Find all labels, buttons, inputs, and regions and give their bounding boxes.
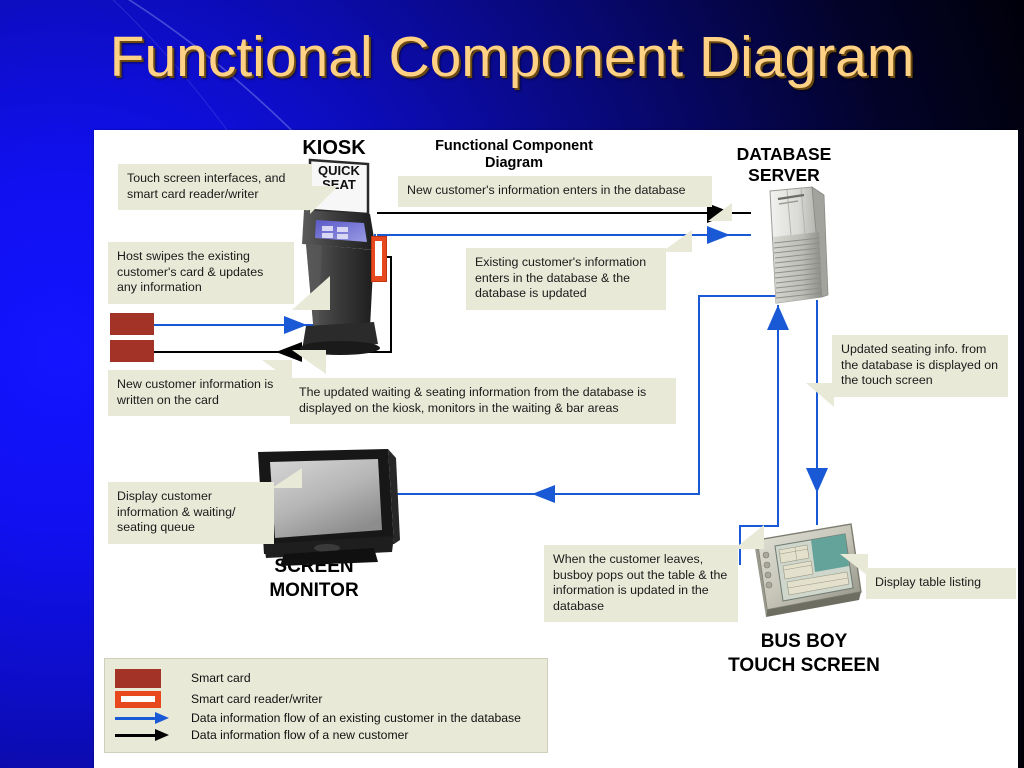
callout-new-customer-written-text: New customer information is written on t…	[117, 377, 273, 407]
smart-card-reader-slot-icon	[121, 696, 155, 702]
callout-tail	[292, 350, 326, 374]
flow-line-kiosk-to-server-new	[377, 212, 751, 214]
callout-existing-customer-enters-database: Existing customer's information enters i…	[466, 248, 666, 310]
smart-card-reader-icon	[371, 236, 387, 282]
callout-tail	[310, 186, 338, 214]
node-label-database-server-line2: SERVER	[684, 165, 884, 186]
page-title: Functional Component Diagram	[0, 28, 1024, 88]
legend-swatch-cell	[115, 726, 191, 743]
screen-monitor-device	[254, 448, 402, 566]
callout-touch-screen-interfaces-text: Touch screen interfaces, and smart card …	[127, 171, 285, 201]
blue-arrow-head-icon	[155, 712, 169, 724]
callout-new-customer-enters-database: New customer's information enters in the…	[398, 176, 712, 207]
blue-arrow-swatch	[115, 712, 173, 724]
database-server-device	[754, 185, 838, 305]
callout-updated-seating-info: Updated seating info. from the database …	[832, 335, 1008, 397]
node-label-database-server: DATABASE SERVER	[684, 144, 884, 186]
callout-existing-customer-enters-text: Existing customer's information enters i…	[475, 255, 646, 300]
callout-tail	[262, 360, 292, 382]
callout-when-customer-leaves: When the customer leaves, busboy pops ou…	[544, 545, 738, 622]
black-arrow-swatch	[115, 729, 173, 741]
legend-label: Data information flow of an existing cus…	[191, 709, 521, 726]
callout-updated-waiting-seating: The updated waiting & seating informatio…	[290, 378, 676, 424]
callout-host-swipes-text: Host swipes the existing customer's card…	[117, 249, 263, 294]
legend-label: Data information flow of a new customer	[191, 726, 521, 743]
flow-line-server-down-left	[698, 295, 700, 495]
legend-label: Smart card	[191, 667, 521, 689]
legend-table: Smart card Smart card reader/writer	[115, 667, 521, 743]
arrowhead-blue-down-to-busboy	[806, 468, 828, 493]
legend-row: Data information flow of an existing cus…	[115, 709, 521, 726]
legend-swatch-cell	[115, 689, 191, 709]
callout-host-swipes: Host swipes the existing customer's card…	[108, 242, 294, 304]
callout-tail	[662, 230, 692, 252]
smart-card-icon-bottom	[110, 340, 154, 362]
flow-line-busboy-to-server	[777, 305, 779, 527]
legend-swatch-cell	[115, 667, 191, 689]
arrowhead-blue-up-to-server	[767, 305, 789, 330]
callout-tail	[272, 468, 302, 488]
node-label-screen-monitor-line2: MONITOR	[204, 579, 424, 603]
callout-when-customer-leaves-text: When the customer leaves, busboy pops ou…	[553, 552, 727, 613]
node-label-kiosk: KIOSK	[269, 138, 399, 158]
callout-tail	[292, 276, 330, 310]
black-arrow-head-icon	[155, 729, 169, 741]
diagram-heading-line1: Functional Component	[364, 138, 664, 155]
callout-updated-seating-info-text: Updated seating info. from the database …	[841, 342, 998, 387]
node-label-bus-boy-line1: BUS BOY	[654, 630, 954, 654]
smart-card-swatch	[115, 669, 161, 688]
callout-display-table-listing-text: Display table listing	[875, 575, 981, 589]
callout-tail	[840, 554, 868, 576]
callout-display-customer-info: Display customer information & waiting/ …	[108, 482, 274, 544]
legend-row: Smart card reader/writer	[115, 689, 521, 709]
node-label-database-server-line1: DATABASE	[684, 144, 884, 165]
smart-card-reader-slot	[375, 241, 382, 276]
smart-card-reader-swatch	[115, 691, 161, 708]
diagram-heading-line2: Diagram	[364, 155, 664, 172]
flow-line-kiosk-to-server-existing	[377, 234, 751, 236]
callout-tail	[734, 525, 764, 549]
legend-row: Smart card	[115, 667, 521, 689]
diagram-canvas: Functional Component Diagram KIOSK DATAB…	[94, 130, 1018, 768]
callout-touch-screen-interfaces: Touch screen interfaces, and smart card …	[118, 164, 312, 210]
arrowhead-blue-to-monitor	[532, 485, 555, 503]
callout-display-table-listing: Display table listing	[866, 568, 1016, 599]
black-arrow-shaft-icon	[115, 734, 157, 737]
legend-row: Data information flow of a new customer	[115, 726, 521, 743]
blue-arrow-shaft-icon	[115, 717, 157, 720]
callout-new-customer-enters-text: New customer's information enters in the…	[407, 183, 686, 197]
callout-tail	[806, 383, 834, 407]
arrowhead-blue-to-server	[707, 226, 730, 244]
callout-updated-waiting-text: The updated waiting & seating informatio…	[299, 385, 646, 415]
callout-display-customer-info-text: Display customer information & waiting/ …	[117, 489, 235, 534]
kiosk-screen-label-line1: QUICK	[308, 164, 370, 178]
legend-label: Smart card reader/writer	[191, 689, 521, 709]
legend-box: Smart card Smart card reader/writer	[104, 658, 548, 753]
smart-card-icon-top	[110, 313, 154, 335]
node-label-bus-boy-line2: TOUCH SCREEN	[654, 654, 954, 678]
presentation-slide: Functional Component Diagram Functional …	[0, 0, 1024, 768]
diagram-heading: Functional Component Diagram	[364, 138, 664, 172]
node-label-bus-boy-touch-screen: BUS BOY TOUCH SCREEN	[654, 630, 954, 678]
callout-tail	[708, 203, 732, 221]
legend-swatch-cell	[115, 709, 191, 726]
